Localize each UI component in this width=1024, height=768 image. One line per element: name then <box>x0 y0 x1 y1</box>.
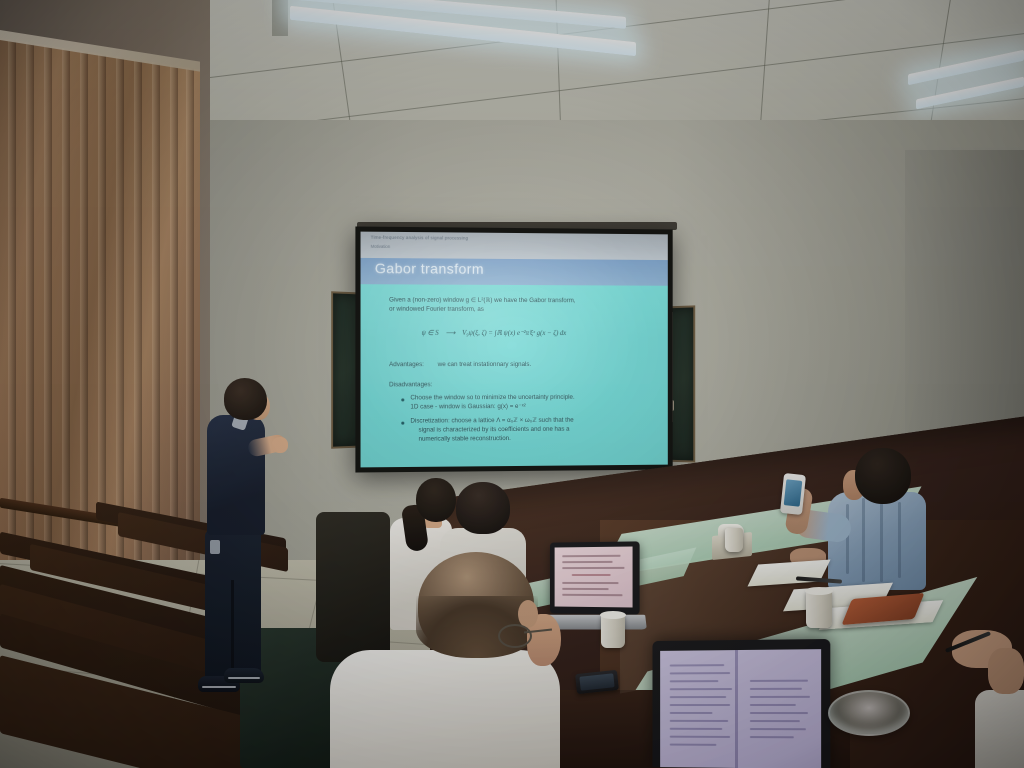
slide-title: Gabor transform <box>375 260 484 277</box>
paper-cup-3-rim <box>805 587 833 595</box>
chair-behind-attendees[interactable] <box>316 512 390 662</box>
projected-slide: Time-frequency analysis of signal proces… <box>361 232 668 468</box>
slide-bullet-marker-2 <box>401 422 404 425</box>
laptop-macbook-page-gutter <box>735 650 738 768</box>
presenter-shoe-right <box>224 668 264 683</box>
paper-cup-1[interactable] <box>601 614 625 648</box>
slide-advantages-text: we can treat instationnary signals. <box>438 361 531 370</box>
slide-header-line-2: Motivation <box>371 244 390 249</box>
presenter-hand <box>272 437 288 453</box>
slide-body: Given a (non-zero) window g ∈ L²(ℝ) we h… <box>361 284 668 467</box>
seminar-room-photo: Time-frequency analysis of signal proces… <box>0 0 1024 768</box>
laptop-macbook-screen <box>660 649 821 768</box>
slide-advantages-label: Advantages: <box>389 361 424 370</box>
paper-cup-1-rim <box>600 611 626 619</box>
slide-bullet-2-line-3: numerically stable reconstruction. <box>419 435 511 444</box>
slide-bullet-2-line-1: Discretization: choose a lattice Λ = α₀ℤ… <box>410 417 573 426</box>
paper-cup-3[interactable] <box>806 590 832 628</box>
presenter-torso <box>207 415 265 535</box>
photographer-head <box>855 448 911 504</box>
slide-bullet-2-line-2: signal is characterized by its coefficie… <box>419 426 570 435</box>
slide-disadvantages-label: Disadvantages: <box>389 381 432 390</box>
note-taker-hand-2 <box>988 648 1024 694</box>
projection-screen: Time-frequency analysis of signal proces… <box>355 226 672 472</box>
slide-bullet-marker-1 <box>401 398 404 401</box>
presenter-pocket <box>210 540 220 554</box>
slide-header-line-1: Time-frequency analysis of signal proces… <box>371 235 468 241</box>
presenter-leg-gap <box>231 580 234 680</box>
paper-cup-2[interactable] <box>725 528 743 552</box>
slide-body-line-1: Given a (non-zero) window g ∈ L²(ℝ) we h… <box>389 296 576 305</box>
attendee-foreground-glasses <box>498 624 532 648</box>
slide-bullet-1-line-1: Choose the window so to minimize the unc… <box>410 394 574 403</box>
glass-ashtray[interactable] <box>828 690 910 736</box>
laptop-silver-screen <box>555 547 633 608</box>
slide-body-line-2: or windowed Fourier transform, as <box>389 306 484 315</box>
attendee-foreground-shirt <box>330 650 560 768</box>
slide-equation: ψ ∈ S ⟶ V₉ψ(ξ, ζ) = ∫ℝ ψ(x) e⁻²πⁱξˣ g(x … <box>422 329 567 337</box>
slide-bullet-1-line-2: 1D case - window is Gaussian: g(x) = e⁻ˣ… <box>410 403 525 412</box>
attendee-white-top-head <box>416 478 456 522</box>
smartphone-white-screen <box>784 479 803 507</box>
presenter-head <box>224 378 267 420</box>
photographer-torso <box>828 492 926 590</box>
attendee-dark-hair-head <box>456 482 510 534</box>
note-taker-sleeve <box>975 690 1024 768</box>
